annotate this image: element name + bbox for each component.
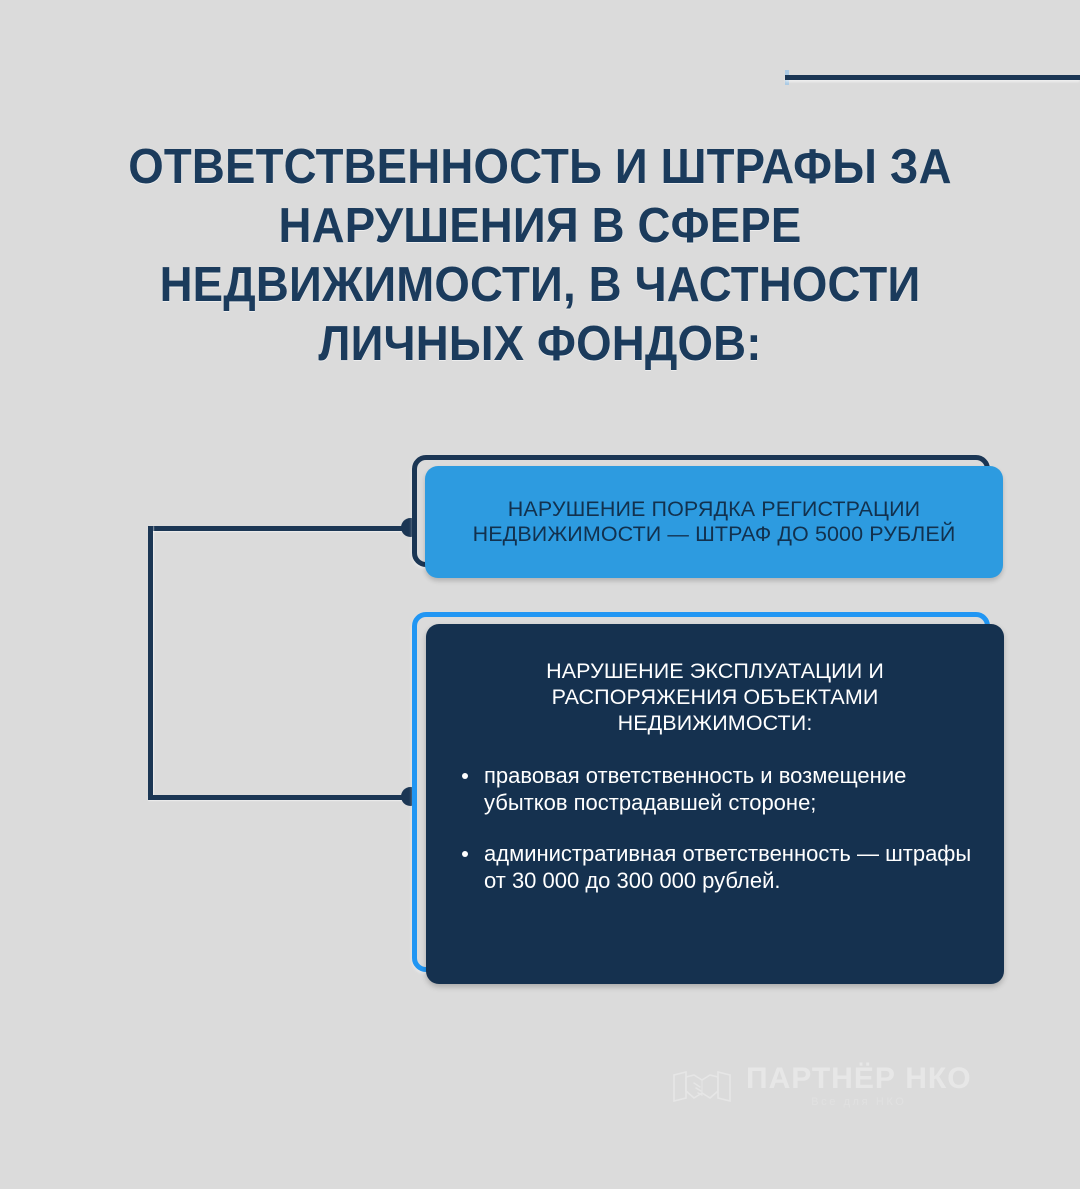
list-item-text: правовая ответственность и возмещение уб… <box>484 763 906 815</box>
title-line-3: НЕДВИЖИМОСТИ, В ЧАСТНОСТИ <box>38 256 1042 315</box>
top-rule-decoration <box>785 75 1080 80</box>
page-title: ОТВЕТСТВЕННОСТЬ И ШТРАФЫ ЗА НАРУШЕНИЯ В … <box>38 138 1042 374</box>
logo-tagline-text: Все для НКО <box>746 1095 972 1109</box>
connector-top-arm <box>148 526 410 531</box>
card-body: НАРУШЕНИЕ ПОРЯДКА РЕГИСТРАЦИИ НЕДВИЖИМОС… <box>425 466 1003 578</box>
brand-logo: ПАРТНЁР НКО Все для НКО <box>672 1063 972 1125</box>
card-registration-violation[interactable]: НАРУШЕНИЕ ПОРЯДКА РЕГИСТРАЦИИ НЕДВИЖИМОС… <box>412 455 1012 585</box>
list-item: административная ответственность — штраф… <box>452 840 978 894</box>
bracket-connector <box>130 500 430 830</box>
logo-brand-text: ПАРТНЁР НКО <box>746 1063 972 1095</box>
connector-spine <box>148 526 153 800</box>
title-line-4: ЛИЧНЫХ ФОНДОВ: <box>38 315 1042 374</box>
card-bullet-list: правовая ответственность и возмещение уб… <box>452 762 978 894</box>
title-line-2: НАРУШЕНИЯ В СФЕРЕ <box>38 197 1042 256</box>
bullet-dot-icon <box>462 773 468 779</box>
card-heading: НАРУШЕНИЕ ЭКСПЛУАТАЦИИ И РАСПОРЯЖЕНИЯ ОБ… <box>452 658 978 736</box>
list-item-text: административная ответственность — штраф… <box>484 841 971 893</box>
card-heading: НАРУШЕНИЕ ПОРЯДКА РЕГИСТРАЦИИ НЕДВИЖИМОС… <box>439 497 989 547</box>
handshake-icon <box>672 1065 732 1111</box>
infographic-canvas: ОТВЕТСТВЕННОСТЬ И ШТРАФЫ ЗА НАРУШЕНИЯ В … <box>0 0 1080 1189</box>
logo-words: ПАРТНЁР НКО Все для НКО <box>746 1063 972 1109</box>
bullet-dot-icon <box>462 851 468 857</box>
card-operation-violation[interactable]: НАРУШЕНИЕ ЭКСПЛУАТАЦИИ И РАСПОРЯЖЕНИЯ ОБ… <box>412 612 1012 1002</box>
card-body: НАРУШЕНИЕ ЭКСПЛУАТАЦИИ И РАСПОРЯЖЕНИЯ ОБ… <box>426 624 1004 984</box>
connector-bottom-arm <box>148 795 410 800</box>
list-item: правовая ответственность и возмещение уб… <box>452 762 978 816</box>
title-line-1: ОТВЕТСТВЕННОСТЬ И ШТРАФЫ ЗА <box>38 138 1042 197</box>
